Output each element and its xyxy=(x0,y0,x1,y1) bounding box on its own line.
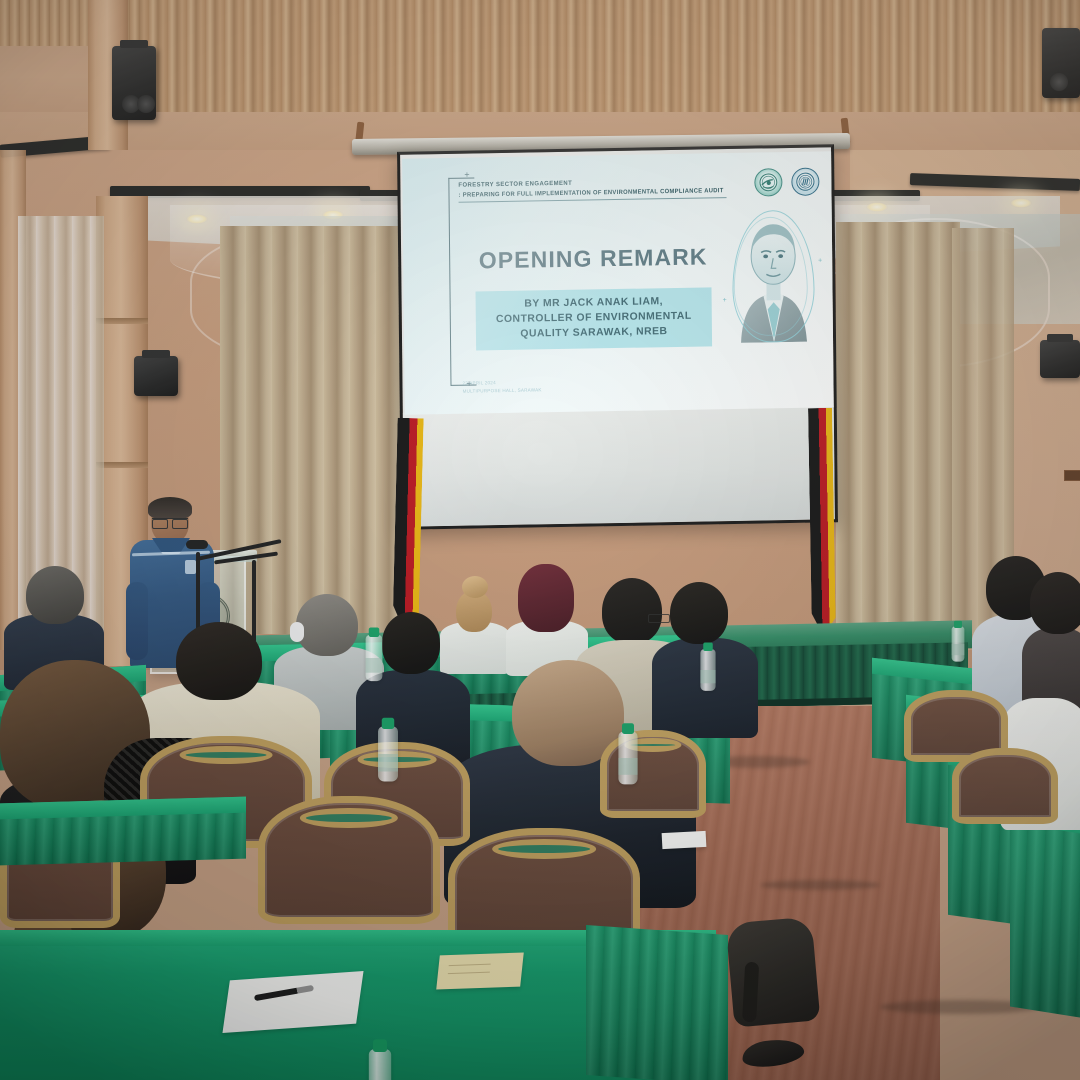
speaker-bracket xyxy=(120,40,148,48)
bottle-label xyxy=(366,658,383,673)
chair-back-cutout xyxy=(180,746,273,764)
wall-sign xyxy=(1064,470,1080,481)
slide-crosshair-top: + xyxy=(464,171,469,180)
notepad-line xyxy=(449,964,491,966)
water-bottle xyxy=(369,1049,391,1080)
table-foreground-side xyxy=(586,925,728,1080)
wall-mounted-loudspeaker xyxy=(1042,28,1080,98)
banquet-chair xyxy=(600,730,706,818)
paper-sheet xyxy=(222,971,363,1033)
water-bottle xyxy=(700,649,715,691)
bottle-label xyxy=(700,670,715,683)
conference-hall-photograph: + + FORESTRY SECTOR ENGAGEMENT : PREPARI… xyxy=(0,0,1080,1080)
sarawak-flag-left xyxy=(392,418,423,637)
screen-blank-area xyxy=(403,405,835,527)
portrait-accent-dot: + xyxy=(818,257,822,264)
chair-back-cutout xyxy=(492,839,596,859)
water-bottle xyxy=(952,626,965,661)
wall-mounted-loudspeaker xyxy=(1040,340,1080,378)
presenter-eyeglasses xyxy=(152,518,188,526)
slide-footer: 22 APRIL 2024 MULTIPURPOSE HALL, SARAWAK xyxy=(462,376,652,395)
presenter-hair xyxy=(148,497,192,519)
bottle-label xyxy=(618,758,637,775)
ceiling-downlight xyxy=(1010,198,1032,208)
curtain-left-of-screen xyxy=(220,226,400,634)
banquet-chair xyxy=(952,748,1058,824)
microphone-head xyxy=(186,540,208,549)
water-bottle xyxy=(366,635,383,681)
banquet-chair xyxy=(258,796,440,924)
wall-mounted-loudspeaker xyxy=(112,46,156,120)
backpack-strap xyxy=(742,962,759,1023)
presenter-chest-badge xyxy=(185,560,196,574)
carpet-mark xyxy=(760,880,880,890)
nreb-logo xyxy=(754,168,782,196)
paper-sheet xyxy=(662,831,707,849)
water-bottle xyxy=(378,727,398,782)
person-head-hair xyxy=(518,564,574,632)
slide-title: OPENING REMARK xyxy=(473,245,713,272)
chair-frame xyxy=(952,748,1058,824)
notepad-line xyxy=(448,972,490,974)
notepad xyxy=(436,952,524,989)
wooden-slat-ceiling xyxy=(130,0,1080,112)
sarawak-flag-right xyxy=(808,408,836,636)
bottle-cap xyxy=(622,723,634,734)
water-bottle xyxy=(618,732,637,785)
slide-header: FORESTRY SECTOR ENGAGEMENT : PREPARING F… xyxy=(458,177,758,203)
bottle-cap xyxy=(369,628,380,637)
hair-bun xyxy=(462,576,488,598)
bottle-cap xyxy=(382,718,395,729)
person-head-hair xyxy=(382,612,440,674)
bottle-cap xyxy=(373,1039,387,1052)
backpack xyxy=(726,916,821,1027)
bottle-cap xyxy=(703,642,713,651)
speaker-bracket xyxy=(142,350,170,358)
speaker-bracket xyxy=(1047,334,1073,342)
curtain-right-of-screen xyxy=(836,222,960,636)
ceiling-downlight xyxy=(186,214,208,224)
wall-mounted-loudspeaker xyxy=(134,356,178,396)
person-head-hair xyxy=(26,566,84,624)
slide-logo-group xyxy=(754,167,819,196)
portrait-accent-dot: + xyxy=(723,297,727,304)
slide-portrait-illustration: + + xyxy=(732,210,815,343)
slide-byline: BY MR JACK ANAK LIAM, CONTROLLER OF ENVI… xyxy=(476,287,713,350)
bottle-cap xyxy=(954,621,962,628)
ceiling-downlight xyxy=(866,202,888,212)
person-head-hair xyxy=(670,582,728,644)
projected-slide: + + FORESTRY SECTOR ENGAGEMENT : PREPARI… xyxy=(402,151,838,415)
slide-decorative-bracket xyxy=(448,177,476,385)
speaker-driver-icon xyxy=(137,95,155,113)
projection-screen: + + FORESTRY SECTOR ENGAGEMENT : PREPARI… xyxy=(397,144,838,530)
person-head-hair xyxy=(1030,572,1080,634)
table-front-left xyxy=(0,797,246,866)
bottle-label xyxy=(952,644,965,655)
speaker-driver-icon xyxy=(1050,73,1068,91)
forestry-department-logo xyxy=(791,167,819,195)
bottle-label xyxy=(378,754,398,772)
table-right-4 xyxy=(1010,806,1080,1017)
